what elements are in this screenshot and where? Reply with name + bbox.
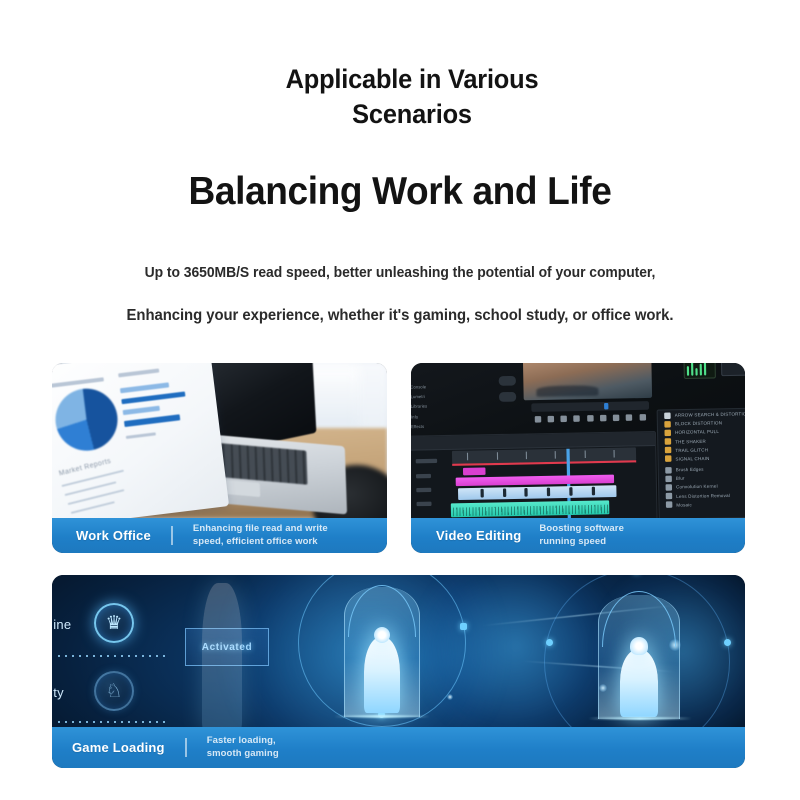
bin-item-label: ARROW SEARCH & DISTORTION PACK — [675, 411, 745, 418]
source-monitor — [721, 363, 745, 376]
bin-item-label: Convolution Kernel — [676, 484, 718, 490]
eyebrow-heading: Applicable in Various Scenarios — [243, 62, 581, 131]
subtitle-line-2: Enhancing your experience, whether it's … — [16, 307, 784, 325]
card-description: Boosting software running speed — [539, 523, 624, 548]
timeline-clip[interactable] — [463, 467, 485, 475]
game-loading-caption-bar: Game Loading Faster loading, smooth gami… — [52, 727, 745, 768]
laptop-desk-photo: Market Reports — [52, 363, 387, 518]
video-editing-image: Console Lumetri Libraries Info Effects — [411, 363, 745, 518]
game-skill-tree-scene: line ♛ ity ♘ ♚ Activated — [52, 575, 745, 727]
bin-item-label: Blur — [676, 476, 685, 482]
bin-item-label: THE SHAKER — [675, 438, 706, 444]
timeline-audio-clip[interactable] — [451, 500, 610, 516]
video-editing-caption-bar: Video Editing Boosting software running … — [411, 518, 745, 553]
bin-item-label: SIGNAL CHAIN — [675, 456, 709, 462]
page-title: Balancing Work and Life — [20, 170, 780, 214]
bin-item-label: HORIZONTAL PULL — [675, 429, 719, 435]
skill-label-line: line — [52, 617, 71, 632]
work-office-caption-bar: Work Office Enhancing file read and writ… — [52, 518, 387, 553]
program-monitor — [523, 363, 652, 400]
bin-item-label: Lens Distortion Removal — [676, 492, 730, 498]
bin-item-label: Mosaic — [676, 502, 692, 508]
effects-panel[interactable]: ARROW SEARCH & DISTORTION PACK BLOCK DIS… — [656, 407, 745, 518]
card-description: Faster loading, smooth gaming — [207, 735, 279, 760]
bin-item-label: Brush Edges — [676, 467, 704, 473]
pie-chart — [52, 385, 121, 454]
timeline-clip[interactable] — [455, 474, 614, 486]
card-title: Video Editing — [436, 528, 521, 543]
card-title: Game Loading — [72, 740, 165, 755]
transport-controls[interactable] — [531, 411, 649, 427]
card-description: Enhancing file read and write speed, eff… — [193, 523, 328, 548]
bin-item-label: BLOCK DISTORTION — [675, 420, 722, 426]
skill-label-ity: ity — [52, 685, 64, 700]
game-loading-image: line ♛ ity ♘ ♚ Activated — [52, 575, 745, 727]
report-paper: Market Reports — [52, 363, 229, 518]
scope-panel — [684, 363, 717, 379]
scenario-card-work-office[interactable]: Market Reports Work Office Enhancing fil… — [52, 363, 387, 553]
caption-separator — [185, 738, 187, 757]
hands-icon[interactable]: ♘ — [94, 671, 134, 711]
subtitle-line-1: Up to 3650MB/S read speed, better unleas… — [16, 265, 784, 281]
preview-scrubber[interactable] — [531, 401, 649, 412]
timeline-panel[interactable] — [411, 431, 658, 518]
card-title: Work Office — [76, 528, 151, 543]
crown-icon[interactable]: ♛ — [94, 603, 134, 643]
video-editor-screenshot: Console Lumetri Libraries Info Effects — [411, 363, 745, 518]
scenario-card-video-editing[interactable]: Console Lumetri Libraries Info Effects — [411, 363, 745, 553]
bin-item-label: TRAIL GLITCH — [675, 447, 708, 453]
caption-separator — [171, 526, 173, 545]
promo-page: Applicable in Various Scenarios Balancin… — [0, 0, 800, 800]
timeline-clip[interactable] — [458, 485, 617, 500]
scenario-card-game-loading[interactable]: line ♛ ity ♘ ♚ Activated — [52, 575, 745, 768]
work-office-image: Market Reports — [52, 363, 387, 518]
